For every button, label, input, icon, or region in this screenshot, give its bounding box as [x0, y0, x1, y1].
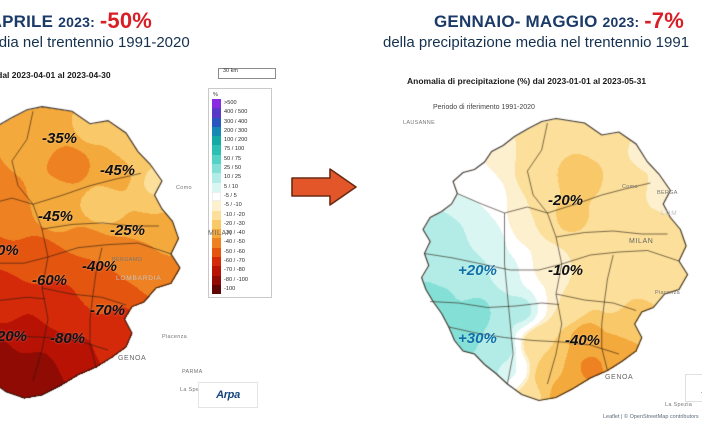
- legend-row: 25 / 50: [212, 164, 269, 173]
- right-map-raster: [385, 62, 702, 440]
- city-como-r: Como: [622, 184, 638, 190]
- map-annotation: -35%: [42, 130, 77, 147]
- map-annotation: -0%: [0, 242, 19, 259]
- left-title-value: -50%: [100, 8, 152, 33]
- city-laspezia-r: La Spezia: [665, 402, 692, 408]
- legend-row: 100 / 200: [212, 136, 269, 145]
- city-parma: PARMA: [182, 369, 203, 375]
- city-milan: MILAN: [208, 230, 232, 237]
- map-annotation: -40%: [565, 332, 600, 349]
- legend-row: 200 / 300: [212, 127, 269, 136]
- city-milan-r: MILAN: [629, 238, 653, 245]
- map-annotation: -70%: [90, 302, 125, 319]
- legend-swatch: [212, 118, 221, 127]
- right-title: GENNAIO- MAGGIO 2023: -7%: [434, 8, 684, 34]
- map-annotation: -20%: [548, 192, 583, 209]
- legend-label: -20 / -30: [224, 220, 245, 229]
- legend-row: -40 / -50: [212, 238, 269, 247]
- legend-swatch: [212, 285, 221, 294]
- right-title-value: -7%: [644, 8, 684, 33]
- region-lombardia-r: LOM: [661, 210, 678, 217]
- map-annotation: -40%: [82, 258, 117, 275]
- legend-row: -60 / -70: [212, 257, 269, 266]
- left-scale-label: 30 km: [223, 68, 238, 74]
- legend-label: -80 / -100: [224, 276, 248, 285]
- city-piacenza-r: Piacenza: [655, 290, 680, 296]
- right-map-panel[interactable]: Anomalia di precipitazione (%) dal 2023-…: [385, 62, 702, 440]
- left-title: NNAIO-APRILE 2023: -50%: [0, 8, 152, 34]
- legend-swatch: [212, 173, 221, 182]
- right-map-subheader: Periodo di riferimento 1991-2020: [433, 104, 535, 111]
- legend-row: 400 / 500: [212, 108, 269, 117]
- legend-label: -50 / -60: [224, 248, 245, 257]
- legend-row: 300 / 400: [212, 118, 269, 127]
- left-legend: % >500400 / 500300 / 400200 / 300100 / 2…: [208, 88, 272, 298]
- legend-swatch: [212, 183, 221, 192]
- legend-swatch: [212, 211, 221, 220]
- legend-swatch: [212, 155, 221, 164]
- map-annotation: -45%: [38, 208, 73, 225]
- legend-label: 300 / 400: [224, 118, 247, 127]
- legend-row: -70 / -80: [212, 266, 269, 275]
- legend-label: -40 / -50: [224, 238, 245, 247]
- arpa-logo-right: A: [685, 374, 702, 402]
- city-piacenza: Piacenza: [162, 334, 187, 340]
- legend-label: >500: [224, 99, 237, 108]
- legend-label: 50 / 75: [224, 155, 241, 164]
- legend-row: 50 / 75: [212, 155, 269, 164]
- legend-swatch: [212, 164, 221, 173]
- map-annotation: -10%: [548, 262, 583, 279]
- city-como: Como: [176, 185, 192, 191]
- region-lombardia: LOMBARDIA: [116, 275, 162, 282]
- legend-label: -60 / -70: [224, 257, 245, 266]
- left-subtitle: itazione media nel trentennio 1991-2020: [0, 34, 190, 51]
- legend-swatch: [212, 266, 221, 275]
- legend-label: -5 / 5: [224, 192, 237, 201]
- legend-row: -20 / -30: [212, 220, 269, 229]
- city-bergamo-r: BERGA: [657, 190, 678, 196]
- legend-label: 75 / 100: [224, 145, 244, 154]
- legend-label: -100: [224, 285, 235, 294]
- map-annotation: +30%: [458, 330, 497, 347]
- legend-swatch: [212, 127, 221, 136]
- legend-swatch: [212, 257, 221, 266]
- legend-label: -70 / -80: [224, 266, 245, 275]
- legend-row: -100: [212, 285, 269, 294]
- legend-label: 400 / 500: [224, 108, 247, 117]
- legend-row: 75 / 100: [212, 145, 269, 154]
- right-map-header: Anomalia di precipitazione (%) dal 2023-…: [407, 76, 646, 86]
- legend-row: 10 / 25: [212, 173, 269, 182]
- map-annotation: -60%: [32, 272, 67, 289]
- city-genoa: GENOA: [118, 355, 146, 362]
- transition-arrow-icon: [290, 166, 358, 208]
- left-legend-rows: >500400 / 500300 / 400200 / 300100 / 200…: [212, 99, 269, 294]
- legend-swatch: [212, 220, 221, 229]
- legend-swatch: [212, 192, 221, 201]
- right-subtitle: della precipitazione media nel trentenni…: [383, 34, 689, 51]
- city-lausanne: LAUSANNE: [403, 120, 435, 126]
- legend-label: 25 / 50: [224, 164, 241, 173]
- left-map-panel[interactable]: ipitazione (%) dal 2023-04-01 al 2023-04…: [0, 62, 290, 440]
- legend-row: >500: [212, 99, 269, 108]
- legend-swatch: [212, 276, 221, 285]
- map-annotation: -20%: [0, 328, 27, 345]
- legend-row: 5 / 10: [212, 183, 269, 192]
- legend-swatch: [212, 248, 221, 257]
- map-annotation: -45%: [100, 162, 135, 179]
- left-map-header: ipitazione (%) dal 2023-04-01 al 2023-04…: [0, 70, 111, 80]
- right-title-period: GENNAIO- MAGGIO: [434, 12, 598, 31]
- map-annotation: +20%: [458, 262, 497, 279]
- legend-swatch: [212, 201, 221, 210]
- map-annotation: -25%: [110, 222, 145, 239]
- slide-root: NNAIO-APRILE 2023: -50% itazione media n…: [0, 0, 702, 440]
- map-annotation: -80%: [50, 330, 85, 347]
- legend-row: -10 / -20: [212, 211, 269, 220]
- arpa-logo-text: Arpa: [216, 389, 240, 401]
- arpa-logo: Arpa: [198, 382, 258, 408]
- left-title-year: 2023:: [58, 14, 95, 30]
- city-genoa-r: GENOA: [605, 374, 633, 381]
- legend-swatch: [212, 238, 221, 247]
- right-title-year: 2023:: [603, 14, 640, 30]
- legend-label: -10 / -20: [224, 211, 245, 220]
- legend-row: -5 / 5: [212, 192, 269, 201]
- left-title-period: NNAIO-APRILE: [0, 12, 53, 31]
- legend-label: -5 / -10: [224, 201, 242, 210]
- legend-label: 10 / 25: [224, 173, 241, 182]
- legend-row: -80 / -100: [212, 276, 269, 285]
- left-legend-title: %: [213, 92, 269, 98]
- legend-swatch: [212, 145, 221, 154]
- map-attribution: Leaflet | © OpenStreetMap contributors: [603, 414, 699, 420]
- legend-row: -5 / -10: [212, 201, 269, 210]
- legend-swatch: [212, 108, 221, 117]
- legend-label: 5 / 10: [224, 183, 238, 192]
- legend-row: -50 / -60: [212, 248, 269, 257]
- legend-swatch: [212, 136, 221, 145]
- legend-label: 100 / 200: [224, 136, 247, 145]
- legend-swatch: [212, 99, 221, 108]
- left-scale-bar: 30 km: [218, 68, 276, 79]
- legend-label: 200 / 300: [224, 127, 247, 136]
